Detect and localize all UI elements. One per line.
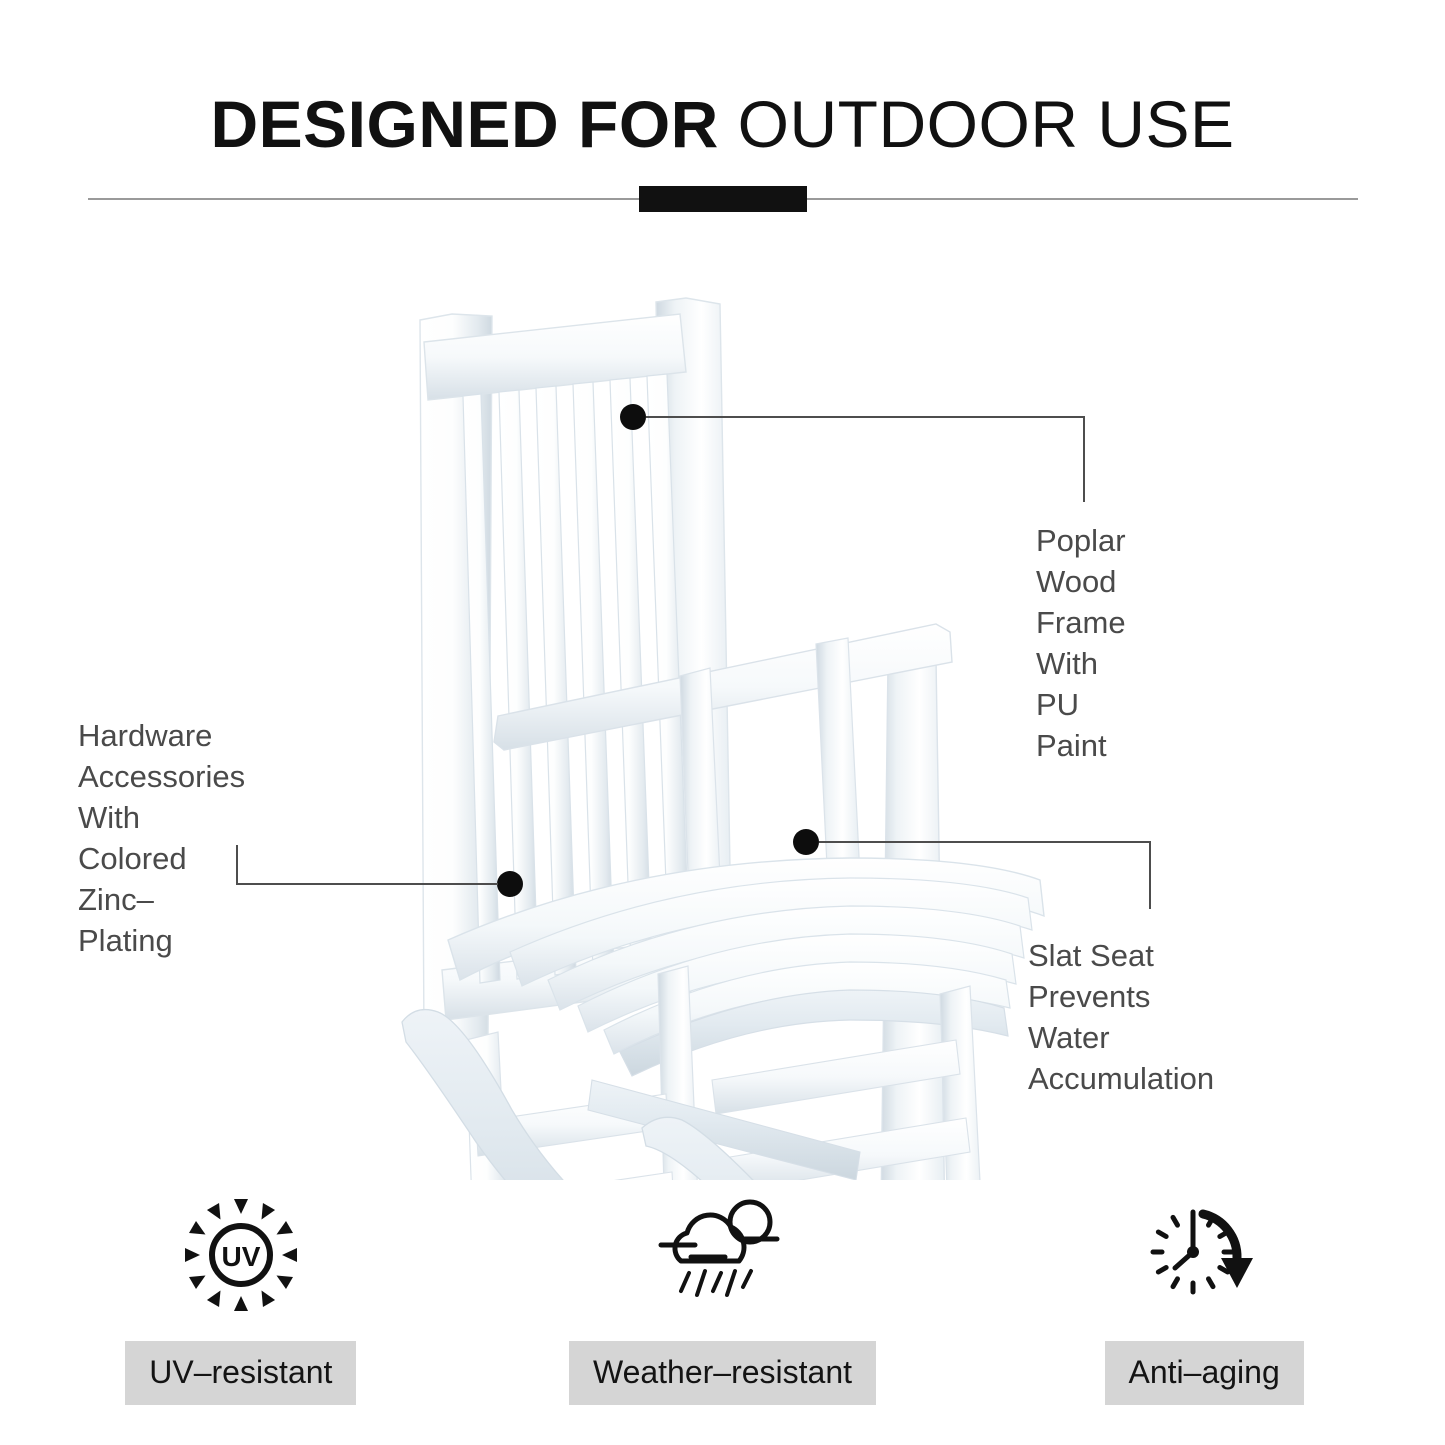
feature-badges-row: UV UV–resistant Weather–resi	[0, 1195, 1445, 1425]
feature-anti-aging: Anti–aging	[994, 1195, 1414, 1405]
callout-dot-hardware-accessories	[497, 871, 523, 897]
callout-label-slat-seat: Slat Seat Prevents Water Accumulation	[1028, 935, 1214, 1099]
callout-label-hardware-accessories: Hardware Accessories With Colored Zinc–P…	[78, 715, 245, 961]
page-title-light: OUTDOOR USE	[719, 87, 1235, 161]
rocking-chair-image	[380, 280, 1080, 1180]
clock-arrow-icon	[1141, 1195, 1267, 1315]
uv-sun-icon: UV	[182, 1195, 300, 1315]
header: DESIGNED FOR OUTDOOR USE	[0, 0, 1445, 230]
page-title: DESIGNED FOR OUTDOOR USE	[210, 88, 1234, 160]
title-divider-tab	[639, 186, 807, 212]
svg-text:UV: UV	[221, 1241, 260, 1272]
callout-dot-slat-seat	[793, 829, 819, 855]
feature-uv-resistant: UV UV–resistant	[31, 1195, 451, 1405]
callout-label-poplar-wood-frame: Poplar Wood Frame With PU Paint	[1036, 520, 1126, 766]
page-title-bold: DESIGNED FOR	[210, 87, 718, 161]
leader-line-vertical-poplar	[1083, 416, 1085, 502]
feature-label-anti-aging: Anti–aging	[1105, 1341, 1304, 1405]
feature-weather-resistant: Weather–resistant	[512, 1195, 932, 1405]
feature-label-uv-resistant: UV–resistant	[125, 1341, 356, 1405]
feature-label-weather-resistant: Weather–resistant	[569, 1341, 876, 1405]
leader-line-horizontal-slat-seat	[819, 841, 1151, 843]
leader-line-horizontal-hardware	[236, 883, 498, 885]
cloud-rain-sun-icon	[647, 1195, 797, 1315]
leader-line-horizontal-poplar	[646, 416, 1084, 418]
leader-line-vertical-slat-seat	[1149, 841, 1151, 909]
callout-dot-poplar-wood-frame	[620, 404, 646, 430]
